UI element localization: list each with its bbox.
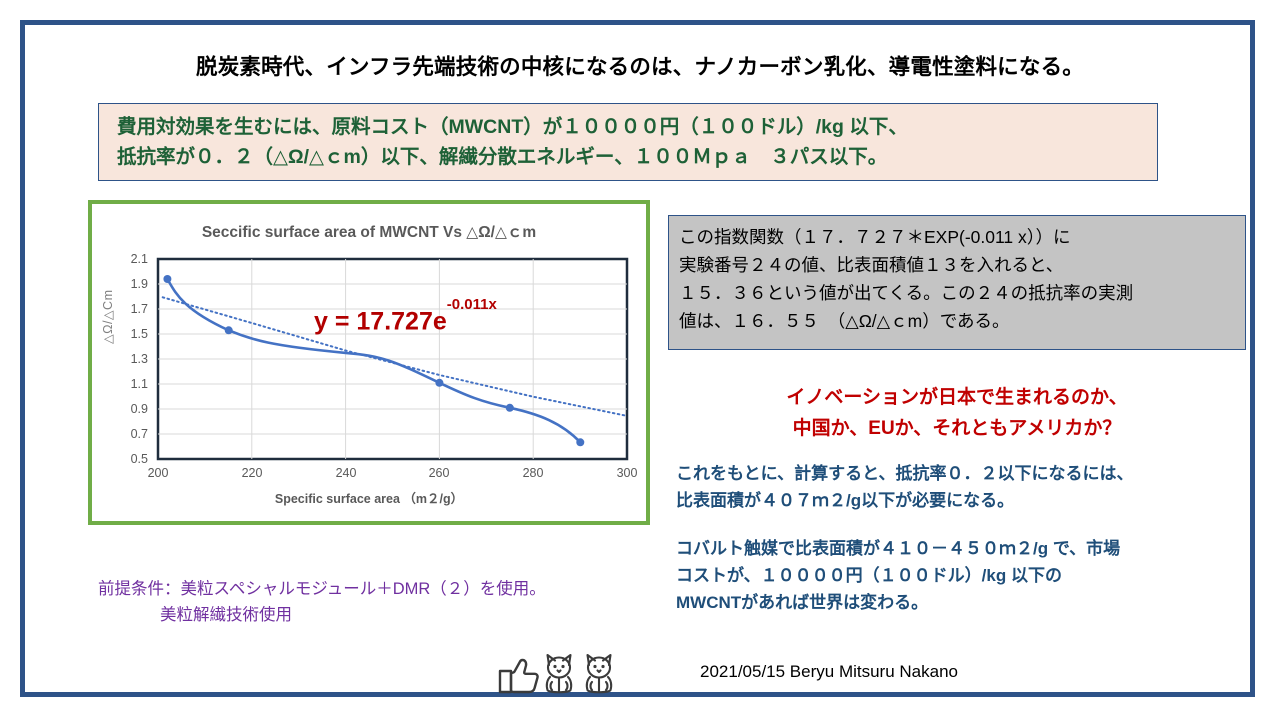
thumbs-up-icon	[500, 660, 538, 692]
maneki-neko-icon	[587, 655, 611, 692]
chart-plot-wrap: △Ω/△Cm 2.1 1.9 1.7 1.5 1.3 1.1 0.9 0.7 0…	[92, 204, 646, 521]
navy2-line-1: コバルト触媒で比表面積が４１０－４５０ｍ２/g で、市場	[676, 535, 1266, 562]
navy1-line-1: これをもとに、計算すると、抵抗率０．２以下になるには、	[676, 460, 1266, 487]
equation-base: y = 17.727e	[314, 307, 447, 335]
navy2-line-3: MWCNTがあれば世界は変わる。	[676, 589, 1266, 616]
purple-line-1: 前提条件：美粒スペシャルモジュール＋DMR（２）を使用。	[98, 576, 618, 602]
red-line-2: 中国か、EUか、それともアメリカか？	[668, 413, 1246, 444]
navy2-line-2: コストが、１００００円（１００ドル）/kg 以下の	[676, 562, 1266, 589]
peach-line-2: 抵抗率が０．２（△Ω/△ｃm）以下、解繊分散エネルギー、１００Ｍｐａ ３パス以下…	[117, 142, 1143, 172]
equation-exponent: -0.011x	[447, 296, 497, 313]
red-line-1: イノベーションが日本で生まれるのか、	[668, 382, 1246, 413]
chart-plot-area	[92, 204, 646, 521]
navy1-line-2: 比表面積が４０７ｍ２/g以下が必要になる。	[676, 487, 1266, 514]
purple-line-2: 美粒解繊技術使用	[98, 602, 618, 628]
innovation-question: イノベーションが日本で生まれるのか、 中国か、EUか、それともアメリカか？	[668, 382, 1246, 444]
trendline-equation-label: y = 17.727e-0.011x	[314, 307, 497, 336]
gray-line-3: １５．３６という値が出てくる。この２４の抵抗率の実測	[679, 279, 1237, 307]
cobalt-catalyst-note: コバルト触媒で比表面積が４１０－４５０ｍ２/g で、市場 コストが、１００００円…	[676, 535, 1266, 616]
peach-line-1: 費用対効果を生むには、原料コスト（MWCNT）が１００００円（１００ドル）/kg…	[117, 112, 1143, 142]
gray-line-4: 値は、１６．５５ （△Ω/△ｃm）である。	[679, 307, 1237, 335]
maneki-neko-icon	[547, 655, 571, 692]
precondition-note: 前提条件：美粒スペシャルモジュール＋DMR（２）を使用。 美粒解繊技術使用	[98, 576, 618, 628]
slide-root: 脱炭素時代、インフラ先端技術の中核になるのは、ナノカーボン乳化、導電性塗料になる…	[0, 0, 1280, 720]
exponential-explanation-box: この指数関数（１７．７２７＊EXP(-0.011 x））に 実験番号２４の値、比…	[668, 215, 1246, 350]
resistivity-calculation-note: これをもとに、計算すると、抵抗率０．２以下になるには、 比表面積が４０７ｍ２/g…	[676, 460, 1266, 514]
cost-condition-callout: 費用対効果を生むには、原料コスト（MWCNT）が１００００円（１００ドル）/kg…	[98, 103, 1158, 181]
footer-icon-group	[498, 651, 628, 695]
page-title: 脱炭素時代、インフラ先端技術の中核になるのは、ナノカーボン乳化、導電性塗料になる…	[60, 50, 1220, 81]
gray-line-2: 実験番号２４の値、比表面積値１３を入れると、	[679, 251, 1237, 279]
author-credit: 2021/05/15 Beryu Mitsuru Nakano	[700, 662, 958, 682]
chart-x-axis-label: Specific surface area （m２/g）	[92, 488, 646, 507]
gray-line-1: この指数関数（１７．７２７＊EXP(-0.011 x））に	[679, 223, 1237, 251]
chart-card: Seccific surface area of MWCNT Vs △Ω/△ｃm…	[88, 200, 650, 525]
